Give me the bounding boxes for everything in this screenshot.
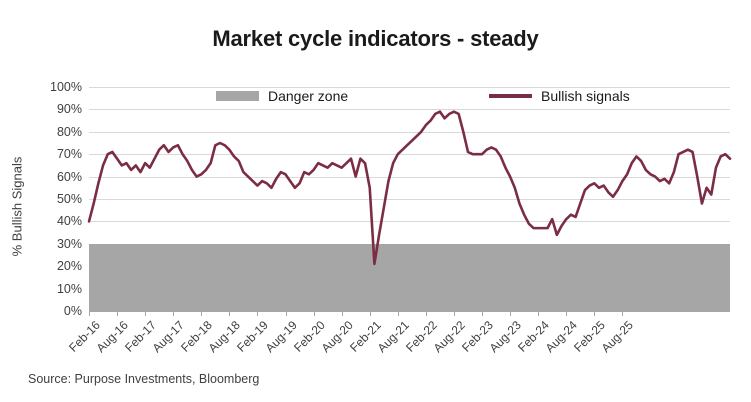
bullish-signals-line — [89, 87, 730, 311]
y-axis-title: % Bullish Signals — [10, 127, 25, 287]
y-axis-tick-label: 30% — [57, 237, 82, 251]
x-axis-tick — [173, 311, 174, 316]
y-axis-tick-label: 100% — [50, 80, 82, 94]
x-axis-tick — [89, 311, 90, 316]
x-axis-tick — [426, 311, 427, 316]
x-axis-tick — [145, 311, 146, 316]
x-axis-tick — [566, 311, 567, 316]
y-axis-tick-label: 90% — [57, 102, 82, 116]
x-axis-tick — [342, 311, 343, 316]
y-axis-tick-label: 10% — [57, 282, 82, 296]
legend-label-bullish-signals: Bullish signals — [541, 88, 630, 104]
x-axis-tick — [117, 311, 118, 316]
x-axis-tick-label: Aug-25 — [599, 318, 636, 355]
y-axis-tick-label: 20% — [57, 259, 82, 273]
x-axis-tick — [286, 311, 287, 316]
x-axis-tick — [538, 311, 539, 316]
y-axis-tick-label: 80% — [57, 125, 82, 139]
x-axis-tick — [454, 311, 455, 316]
danger-zone-swatch — [216, 91, 259, 101]
y-axis-labels: 100%90%80%70%60%50%40%30%20%10%0% — [30, 87, 82, 311]
y-axis-tick-label: 50% — [57, 192, 82, 206]
legend-label-danger-zone: Danger zone — [268, 88, 348, 104]
y-axis-tick-label: 0% — [64, 304, 82, 318]
x-axis-tick — [257, 311, 258, 316]
x-axis-tick — [622, 311, 623, 316]
x-axis-tick — [229, 311, 230, 316]
source-note: Source: Purpose Investments, Bloomberg — [28, 372, 259, 386]
legend-item-bullish-signals: Bullish signals — [489, 88, 630, 104]
x-axis-tick-label: Aug-18 — [206, 318, 243, 355]
chart-card: Market cycle indicators - steady % Bulli… — [0, 0, 751, 402]
x-axis-line — [89, 311, 730, 312]
legend-item-danger-zone: Danger zone — [216, 88, 348, 104]
x-axis-tick — [482, 311, 483, 316]
y-axis-tick-label: 40% — [57, 214, 82, 228]
y-axis-tick-label: 60% — [57, 170, 82, 184]
bullish-signals-swatch — [489, 94, 532, 98]
x-axis-tick — [398, 311, 399, 316]
x-axis-tick — [201, 311, 202, 316]
x-axis-tick — [510, 311, 511, 316]
x-axis-tick — [370, 311, 371, 316]
x-axis-tick — [594, 311, 595, 316]
y-axis-tick-label: 70% — [57, 147, 82, 161]
x-axis-tick-label: Aug-19 — [262, 318, 299, 355]
x-axis-tick — [314, 311, 315, 316]
plot-area — [89, 87, 730, 311]
series-path-bullish-signals — [89, 112, 730, 264]
chart-title: Market cycle indicators - steady — [0, 26, 751, 52]
